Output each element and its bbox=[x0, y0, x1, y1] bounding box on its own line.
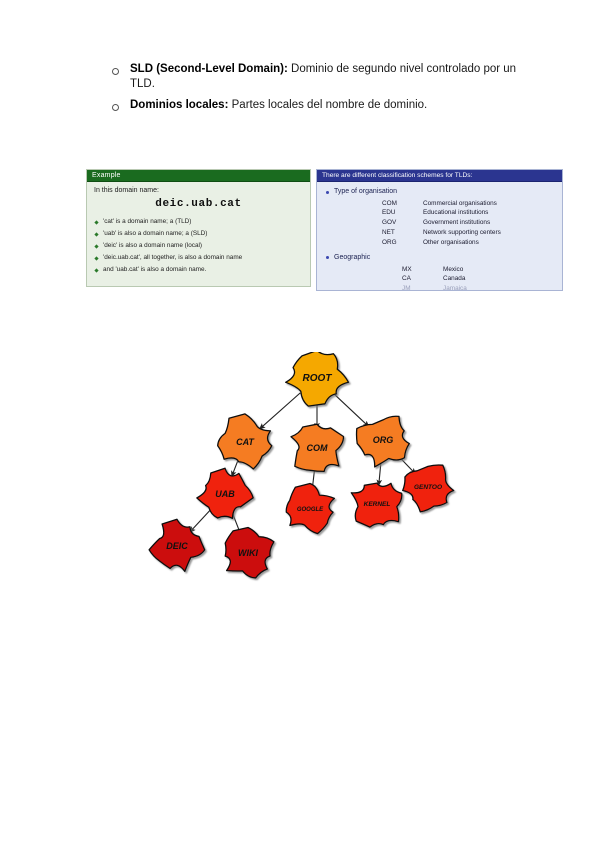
code-cell: COM bbox=[382, 199, 416, 209]
node-label: COM bbox=[307, 443, 329, 453]
bullet-description: Partes locales del nombre de dominio. bbox=[232, 99, 428, 111]
code-cell: EDU bbox=[382, 209, 416, 219]
classification-slide-body: Type of organisation COM Commercial orga… bbox=[317, 182, 562, 303]
list-item: 'uab' is also a domain name; a (SLD) bbox=[94, 230, 303, 239]
classification-slide: There are different classification schem… bbox=[316, 169, 563, 291]
code-cell: GOV bbox=[382, 219, 416, 229]
node-label: GOOGLE bbox=[297, 507, 324, 513]
tree-edge-uab-to-deic bbox=[190, 509, 212, 533]
meaning-cell: Jamaica bbox=[436, 284, 467, 294]
bullet-list: SLD (Second-Level Domain): Dominio de se… bbox=[112, 62, 542, 119]
list-item: 'cat' is a domain name; a (TLD) bbox=[94, 218, 303, 227]
bullet-term: Dominios locales: bbox=[130, 99, 228, 111]
example-slide-body: In this domain name: deic.uab.cat 'cat' … bbox=[87, 182, 310, 282]
table-row: JM Jamaica bbox=[402, 284, 467, 294]
classification-slide-header: There are different classification schem… bbox=[317, 170, 562, 182]
tree-edge-root-to-org bbox=[333, 393, 369, 426]
tree-node-wiki[interactable]: WIKI bbox=[225, 528, 274, 578]
table-row: NET Network supporting centers bbox=[382, 228, 501, 238]
bullet-text: Dominios locales: Partes locales del nom… bbox=[130, 98, 427, 113]
bullet-marker-icon bbox=[112, 104, 119, 111]
example-item-list: 'cat' is a domain name; a (TLD) 'uab' is… bbox=[94, 218, 303, 275]
table-row: COM Commercial organisations bbox=[382, 199, 501, 209]
node-label: UAB bbox=[215, 489, 235, 499]
document-page: SLD (Second-Level Domain): Dominio de se… bbox=[0, 0, 600, 848]
meaning-cell: Other organisations bbox=[416, 238, 501, 248]
example-slide-header: Example bbox=[87, 170, 310, 182]
tree-node-gentoo[interactable]: GENTOO bbox=[403, 465, 454, 512]
table-row: GOV Government institutions bbox=[382, 219, 501, 229]
meaning-cell: Network supporting centers bbox=[416, 228, 501, 238]
node-label: DEIC bbox=[166, 541, 188, 551]
geographic-code-table: MX Mexico CA Canada JM Jamaica bbox=[402, 265, 467, 294]
table-row: EDU Educational institutions bbox=[382, 209, 501, 219]
node-label: ROOT bbox=[303, 373, 333, 384]
tree-node-cat[interactable]: CAT bbox=[218, 414, 272, 469]
node-label: CAT bbox=[236, 437, 255, 447]
bullet-text: SLD (Second-Level Domain): Dominio de se… bbox=[130, 62, 542, 92]
classification-group-list: Type of organisation bbox=[324, 187, 555, 197]
table-row: CA Canada bbox=[402, 275, 467, 285]
bullet-term: SLD (Second-Level Domain): bbox=[130, 63, 288, 75]
tree-node-deic[interactable]: DEIC bbox=[149, 519, 205, 571]
bullet-marker-icon bbox=[112, 68, 119, 75]
list-item: 'deic' is also a domain name (local) bbox=[94, 242, 303, 251]
classification-group-list-2: Geographic bbox=[324, 253, 555, 263]
list-item: and 'uab.cat' is also a domain name. bbox=[94, 266, 303, 275]
meaning-cell: Mexico bbox=[436, 265, 467, 275]
node-label: GENTOO bbox=[414, 484, 442, 491]
organisation-code-table: COM Commercial organisations EDU Educati… bbox=[382, 199, 501, 248]
example-slide: Example In this domain name: deic.uab.ca… bbox=[86, 169, 311, 287]
tree-node-uab[interactable]: UAB bbox=[197, 468, 253, 518]
meaning-cell: Government institutions bbox=[416, 219, 501, 229]
table-row: ORG Other organisations bbox=[382, 238, 501, 248]
node-label: ORG bbox=[373, 435, 394, 445]
node-label: KERNEL bbox=[364, 501, 391, 508]
tree-nodes: ROOTCATCOMORGUABGOOGLEKERNELGENTOODEICWI… bbox=[149, 352, 454, 578]
list-item: Dominios locales: Partes locales del nom… bbox=[112, 98, 542, 113]
meaning-cell: Commercial organisations bbox=[416, 199, 501, 209]
tree-edge-root-to-cat bbox=[259, 393, 300, 429]
code-cell: MX bbox=[402, 265, 436, 275]
code-cell: CA bbox=[402, 275, 436, 285]
tree-node-com[interactable]: COM bbox=[291, 424, 344, 471]
code-cell: JM bbox=[402, 284, 436, 294]
meaning-cell: Canada bbox=[436, 275, 467, 285]
tree-node-google[interactable]: GOOGLE bbox=[286, 484, 334, 534]
group-organisation: Type of organisation bbox=[324, 187, 555, 197]
example-domain-name: deic.uab.cat bbox=[94, 198, 303, 210]
list-item: SLD (Second-Level Domain): Dominio de se… bbox=[112, 62, 542, 92]
meaning-cell: Educational institutions bbox=[416, 209, 501, 219]
node-label: WIKI bbox=[238, 548, 258, 558]
list-item: 'deic.uab.cat', all together, is also a … bbox=[94, 254, 303, 263]
tree-node-org[interactable]: ORG bbox=[357, 416, 410, 467]
tree-node-kernel[interactable]: KERNEL bbox=[351, 483, 402, 527]
table-row: MX Mexico bbox=[402, 265, 467, 275]
code-cell: NET bbox=[382, 228, 416, 238]
dns-hierarchy-tree: ROOTCATCOMORGUABGOOGLEKERNELGENTOODEICWI… bbox=[145, 352, 475, 587]
code-cell: ORG bbox=[382, 238, 416, 248]
example-intro: In this domain name: bbox=[94, 187, 303, 194]
group-geographic: Geographic bbox=[324, 253, 555, 263]
tree-canvas: ROOTCATCOMORGUABGOOGLEKERNELGENTOODEICWI… bbox=[145, 352, 475, 587]
